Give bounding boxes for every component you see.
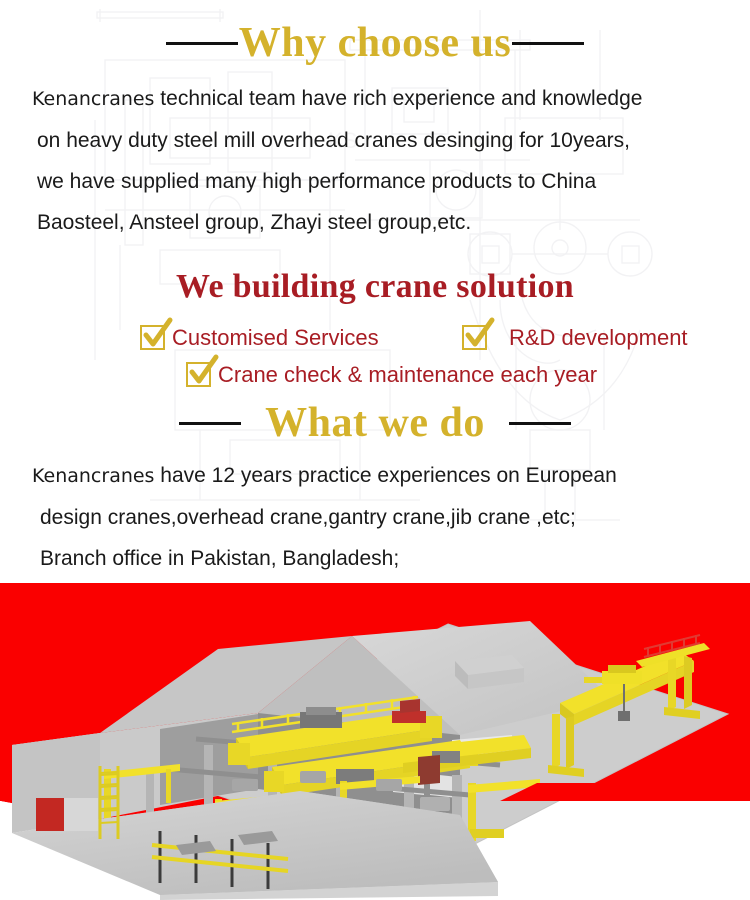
paragraph-line: Branch office in Pakistan, Bangladesh; <box>32 538 617 579</box>
feature-item-label: Customised Services <box>172 327 379 349</box>
red-door-restore <box>36 798 64 831</box>
brand-name: Kenancranes <box>32 465 154 487</box>
heading-rule-right <box>509 422 571 425</box>
checkbox-checked-icon[interactable] <box>186 362 211 387</box>
feature-item-rd-development[interactable]: R&D development <box>462 325 688 350</box>
heading-rule-left <box>179 422 241 425</box>
feature-item-label: R&D development <box>509 327 688 349</box>
paragraph-line: Kenancranes have 12 years practice exper… <box>32 455 617 497</box>
feature-item-customised-services[interactable]: Customised Services <box>140 325 379 350</box>
heading-what-we-do-text: What we do <box>265 402 485 444</box>
heading-rule-left <box>166 42 238 45</box>
feature-item-label: Crane check & maintenance each year <box>218 364 597 386</box>
paragraph-line: Kenancranes technical team have rich exp… <box>32 78 642 120</box>
paragraph-line: Baosteel, Ansteel group, Zhayi steel gro… <box>32 202 642 243</box>
ladle-unit <box>392 711 426 723</box>
paragraph-line: we have supplied many high performance p… <box>32 161 642 202</box>
heading-why-choose-us-text: Why choose us <box>239 22 512 64</box>
heading-crane-solution: We building crane solution <box>0 270 750 304</box>
hero-red-right-tail <box>500 783 750 801</box>
heading-rule-right <box>512 42 584 45</box>
promo-page: KS Why choose us Kenancranes technical t… <box>0 0 750 900</box>
feature-item-crane-check-maintenance[interactable]: Crane check & maintenance each year <box>186 362 597 387</box>
paragraph-line: on heavy duty steel mill overhead cranes… <box>32 120 642 161</box>
paragraph-why-choose-us: Kenancranes technical team have rich exp… <box>32 78 642 243</box>
door-panel-restore <box>64 798 98 831</box>
brand-name: Kenancranes <box>32 88 154 110</box>
paragraph-line-rest: technical team have rich experience and … <box>154 87 642 110</box>
checkbox-checked-icon[interactable] <box>140 325 165 350</box>
hero-workshop-render <box>0 583 750 900</box>
paragraph-line: design cranes,overhead crane,gantry cran… <box>32 497 617 538</box>
heading-what-we-do: What we do <box>0 402 750 444</box>
paragraph-line-rest: have 12 years practice experiences on Eu… <box>154 464 616 487</box>
checkbox-checked-icon[interactable] <box>462 325 487 350</box>
heading-why-choose-us: Why choose us <box>0 22 750 64</box>
paragraph-what-we-do: Kenancranes have 12 years practice exper… <box>32 455 617 579</box>
furnace-wall <box>418 755 440 785</box>
